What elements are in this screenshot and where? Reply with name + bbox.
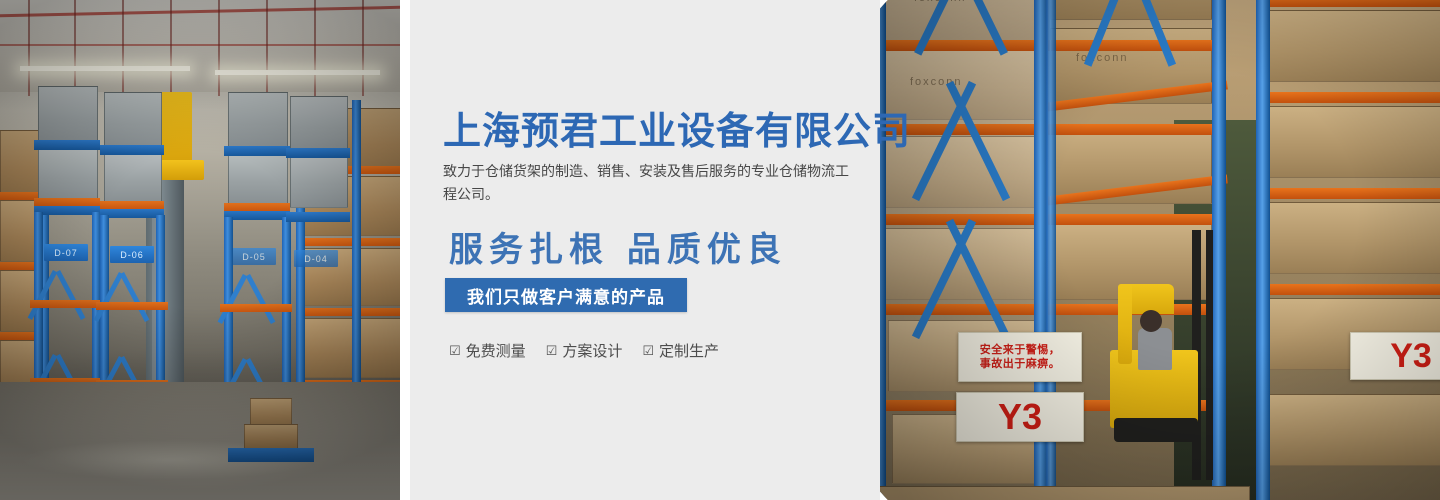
banner-content: 上海预君工业设备有限公司 致力于仓储货架的制造、销售、安装及售后服务的专业仓储物…	[443, 0, 963, 500]
right-warehouse-photo: foxconn foxconn foxconn foxconn	[880, 0, 1440, 500]
feature-item-free-measurement: ☑ 免费测量	[449, 340, 526, 361]
circular-photo-mask: foxconn foxconn foxconn foxconn	[880, 0, 1440, 500]
company-title: 上海预君工业设备有限公司	[443, 100, 911, 155]
left-warehouse-photo: D-07 D-06	[0, 0, 400, 500]
check-icon: ☑	[546, 344, 558, 357]
photo-divider	[400, 0, 410, 500]
feature-label: 免费测量	[466, 340, 526, 361]
right-photo-scene: foxconn foxconn foxconn foxconn	[880, 0, 1440, 500]
company-slogan: 服务扎根 品质优良	[449, 222, 787, 271]
hero-banner: D-07 D-06	[0, 0, 1440, 500]
left-photo-scene: D-07 D-06	[0, 0, 400, 500]
feature-list: ☑ 免费测量 ☑ 方案设计 ☑ 定制生产	[449, 340, 719, 361]
company-subtitle: 致力于仓储货架的制造、销售、安装及售后服务的专业仓储物流工程公司。	[443, 160, 858, 206]
feature-label: 方案设计	[562, 340, 622, 361]
check-icon: ☑	[642, 344, 654, 357]
cta-button[interactable]: 我们只做客户满意的产品	[445, 278, 687, 312]
check-icon: ☑	[449, 344, 461, 357]
feature-label: 定制生产	[659, 340, 719, 361]
feature-item-custom-production: ☑ 定制生产	[642, 340, 719, 361]
feature-item-plan-design: ☑ 方案设计	[546, 340, 623, 361]
